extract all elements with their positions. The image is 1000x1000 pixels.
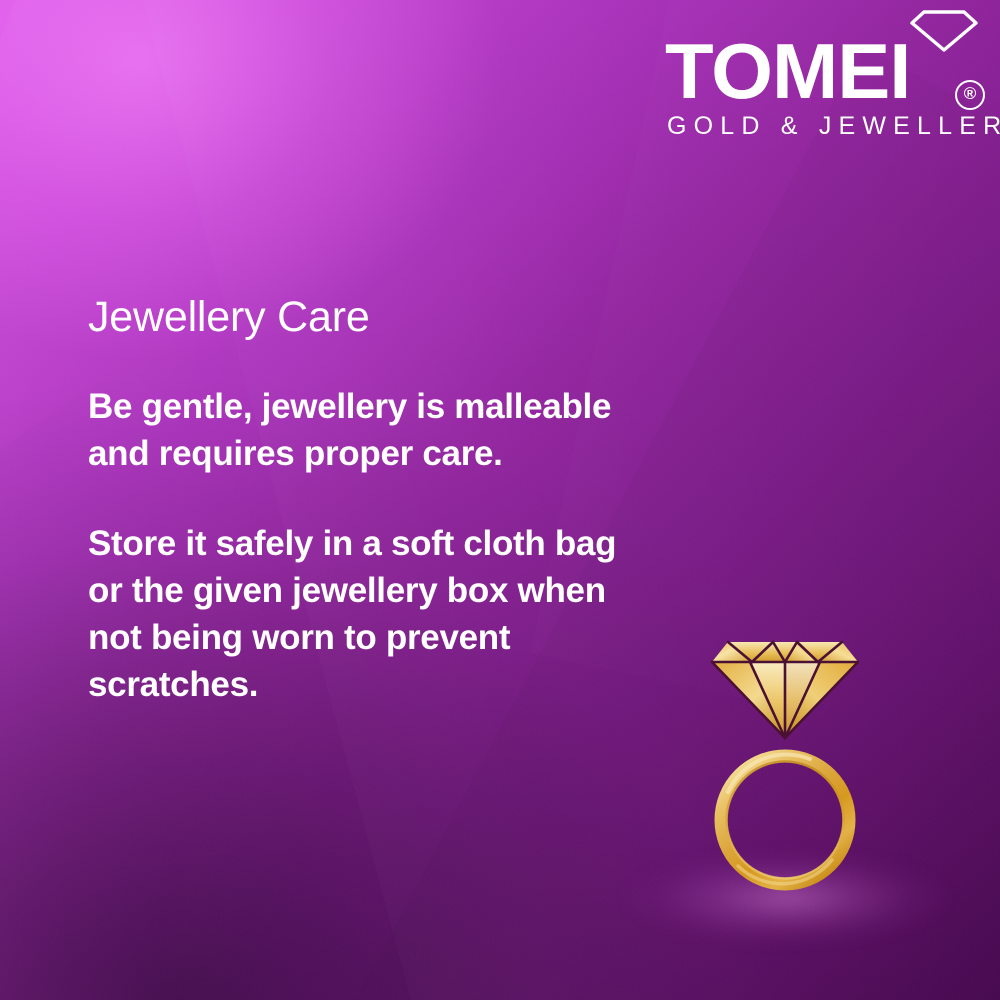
- page-title: Jewellery Care: [88, 293, 370, 342]
- ring-band-icon: [721, 754, 849, 884]
- brand-wordmark: TOMEI: [665, 32, 910, 110]
- gem-icon: [712, 642, 858, 738]
- body-paragraph-1: Be gentle, jewellery is malleable and re…: [88, 383, 658, 477]
- registered-trademark-icon: ®: [955, 80, 985, 110]
- brand-logo: TOMEI ® GOLD & JEWELLERY: [655, 8, 990, 140]
- diamond-ring-illustration: [660, 620, 910, 940]
- brand-tagline: GOLD & JEWELLERY: [667, 112, 1000, 141]
- diamond-outline-icon: [907, 9, 981, 53]
- poster-canvas: TOMEI ® GOLD & JEWELLERY Jewellery Care …: [0, 0, 1000, 1000]
- body-paragraph-2: Store it safely in a soft cloth bag or t…: [88, 520, 658, 708]
- ring-graphic: [660, 620, 910, 940]
